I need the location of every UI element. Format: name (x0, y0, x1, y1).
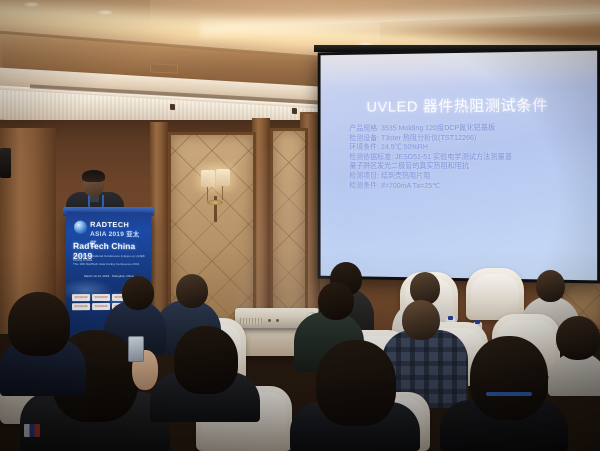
event-subtitle-1: The 19th International Conference & Expo… (73, 254, 148, 262)
conference-room-photo: UVLED 器件热阻测试条件 产品规格: 3535 Molding 120度DC… (0, 0, 600, 451)
audience-head (316, 340, 396, 426)
event-subtitle-2: The 19th RadTech Asia Curing Conference … (73, 262, 148, 266)
ceiling-downlight-icon (24, 2, 39, 7)
audience-head (470, 336, 548, 420)
flag-badge-icon (24, 424, 40, 437)
radtech-logo: RADTECH ASIA 2019 亚太区 (74, 220, 143, 237)
audience-head (8, 292, 70, 356)
chair (466, 268, 524, 320)
slide-line: 检测项目: 结到壳热阻片阻 (349, 171, 580, 181)
slide-line: 量子阱区发光二极管的真实热阻和阻抗 (349, 161, 580, 171)
audience-head (318, 282, 354, 320)
audience-head (556, 316, 600, 360)
sponsor-logo: SPONSOR (92, 294, 110, 301)
track-light-icon (292, 108, 297, 114)
pa-speaker (0, 148, 11, 178)
screen-light-wash (321, 51, 598, 89)
projector-button (276, 319, 279, 322)
globe-icon (74, 221, 87, 234)
screen-surface: UVLED 器件热阻测试条件 产品规格: 3535 Molding 120度DC… (321, 51, 598, 281)
slide-line: 检测条件: If=700mA Ta=25℃ (349, 180, 580, 190)
smartphone[interactable] (128, 336, 144, 362)
audience-head (122, 276, 154, 310)
projector-button (268, 319, 271, 322)
slide-line: 检测依据标准: JESD51-51 实验电学测试方法测量基 (349, 152, 580, 162)
track-light-icon (170, 104, 175, 110)
audience-head (174, 326, 238, 394)
bottle-cap (448, 316, 453, 320)
ceiling-vent (150, 63, 178, 73)
sconce-arm (222, 186, 223, 200)
sponsor-logo: SPONSOR (72, 303, 90, 310)
slide-body: 产品规格: 3535 Molding 120度DCP氮化铝基板 检测设备: T3… (349, 122, 580, 190)
wall-fabric-panel (270, 128, 308, 334)
event-date: March 12-14, 2019 · Shanghai, China (84, 274, 134, 278)
projection-screen: UVLED 器件热阻测试条件 产品规格: 3535 Molding 120度DC… (318, 47, 600, 283)
ceiling-downlight-icon (98, 10, 113, 15)
slide-title: UVLED 器件热阻测试条件 (321, 94, 598, 118)
sponsor-logo: SPONSOR (92, 303, 110, 310)
slide-line: 环境条件: 24.5℃ 50%RH (349, 142, 580, 152)
presenter-hair (82, 170, 105, 182)
sconce-lamp-shade (201, 170, 215, 187)
sponsor-logo: SPONSOR (72, 294, 90, 301)
audience-head (176, 274, 208, 308)
sconce-lamp-shade (216, 169, 230, 186)
audience-head (536, 270, 565, 302)
sconce-arm (207, 187, 208, 201)
audience-head (402, 300, 440, 340)
wall-wood-column (150, 122, 168, 334)
sconce-base (207, 200, 223, 205)
projector-vent (240, 318, 262, 324)
lanyard (486, 392, 532, 396)
